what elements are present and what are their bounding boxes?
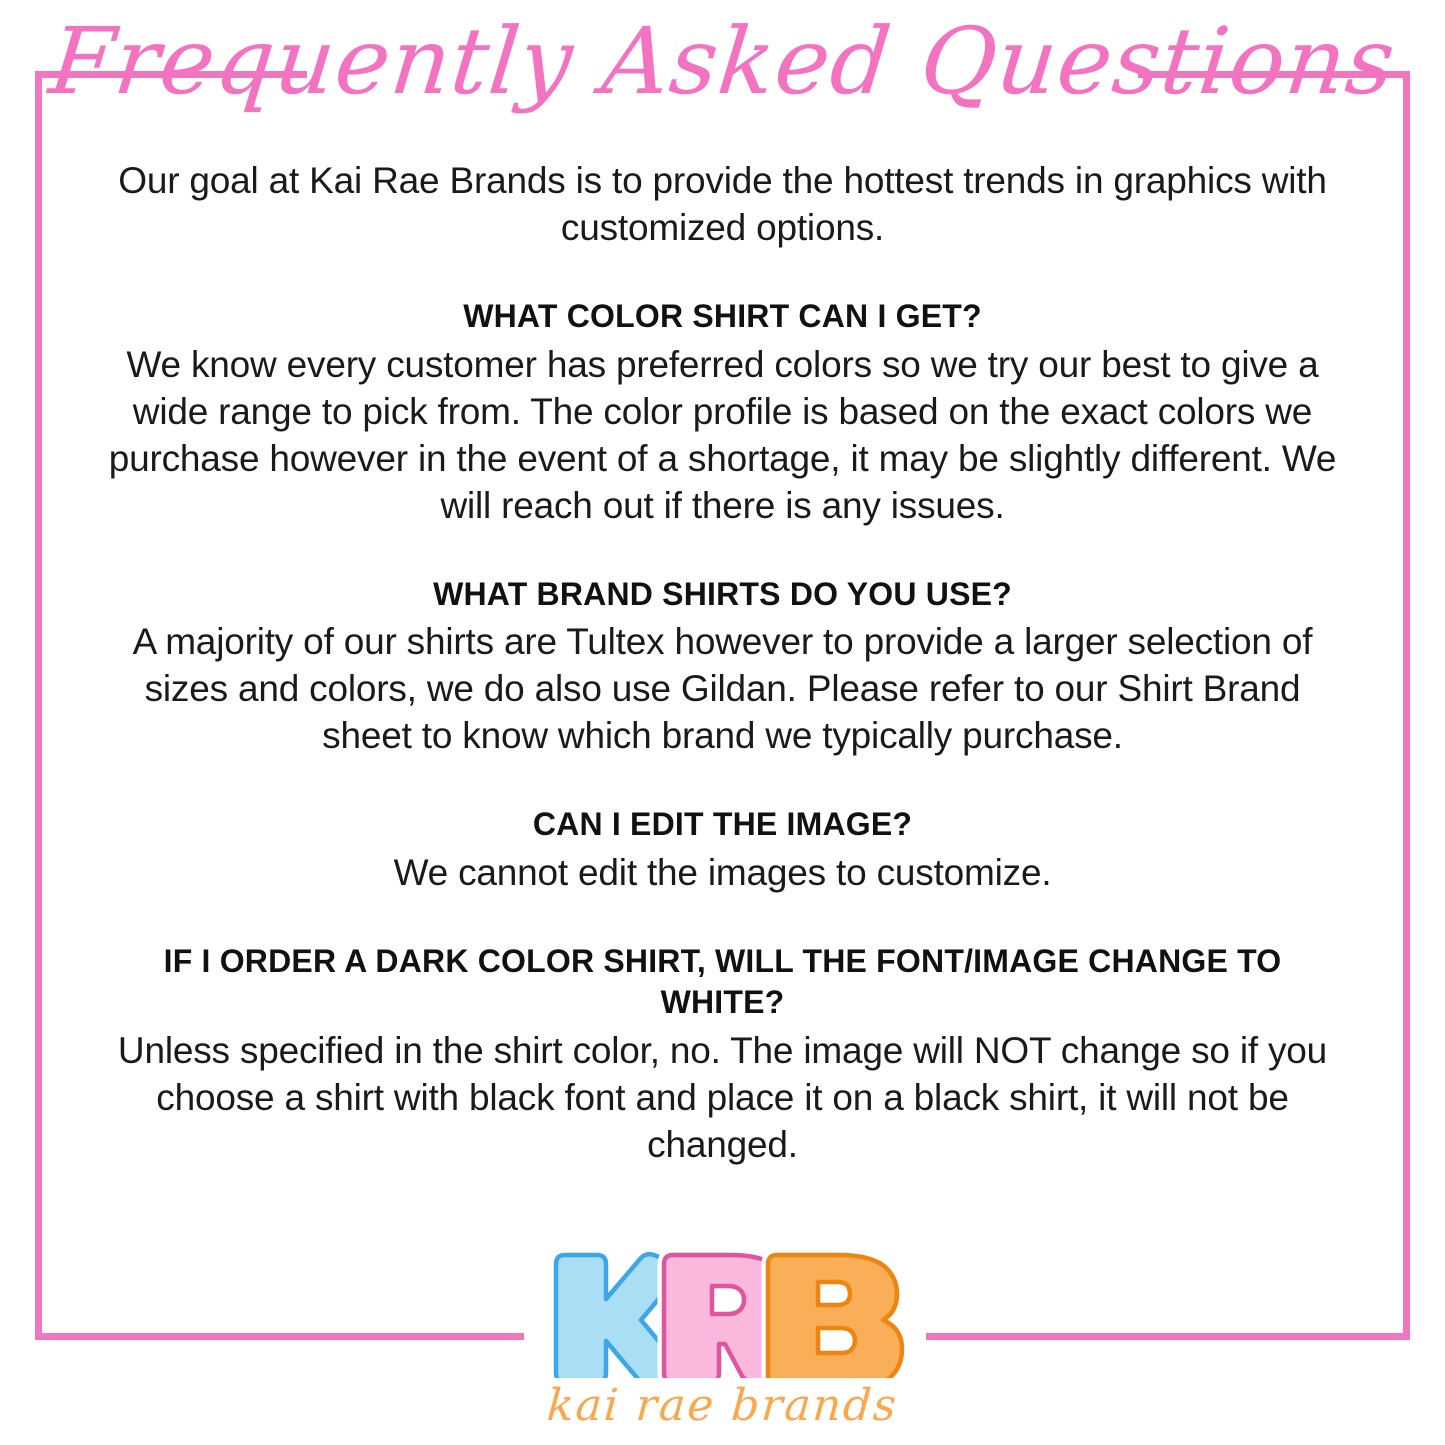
faq-item-3: CAN I EDIT THE IMAGE? We cannot edit the… (105, 804, 1340, 897)
frame-border-left (35, 71, 42, 1340)
faq-answer-4: Unless specified in the shirt color, no.… (105, 1028, 1340, 1169)
faq-question-4: IF I ORDER A DARK COLOR SHIRT, WILL THE … (105, 941, 1340, 1024)
faq-content: Our goal at Kai Rae Brands is to provide… (105, 158, 1340, 1169)
faq-answer-3: We cannot edit the images to customize. (105, 850, 1340, 897)
letter-b-icon (768, 1255, 902, 1378)
krb-monogram-svg: .wo { fill:none; stroke:#ffffff; stroke-… (540, 1246, 906, 1378)
faq-item-4: IF I ORDER A DARK COLOR SHIRT, WILL THE … (105, 941, 1340, 1169)
frame-border-right (1403, 71, 1410, 1340)
faq-question-3: CAN I EDIT THE IMAGE? (105, 804, 1340, 846)
faq-answer-2: A majority of our shirts are Tultex howe… (105, 619, 1340, 760)
brand-tagline: kai rae brands (0, 1380, 1445, 1431)
krb-monogram-icon: .wo { fill:none; stroke:#ffffff; stroke-… (0, 1246, 1445, 1378)
intro-paragraph: Our goal at Kai Rae Brands is to provide… (105, 158, 1340, 252)
faq-question-2: WHAT BRAND SHIRTS DO YOU USE? (105, 574, 1340, 616)
page-title: Frequently Asked Questions (0, 14, 1445, 111)
faq-item-2: WHAT BRAND SHIRTS DO YOU USE? A majority… (105, 574, 1340, 761)
faq-answer-1: We know every customer has preferred col… (105, 342, 1340, 530)
faq-graphic: Frequently Asked Questions Our goal at K… (0, 0, 1445, 1445)
faq-question-1: WHAT COLOR SHIRT CAN I GET? (105, 296, 1340, 338)
faq-item-1: WHAT COLOR SHIRT CAN I GET? We know ever… (105, 296, 1340, 530)
brand-logo: .wo { fill:none; stroke:#ffffff; stroke-… (0, 1246, 1445, 1431)
